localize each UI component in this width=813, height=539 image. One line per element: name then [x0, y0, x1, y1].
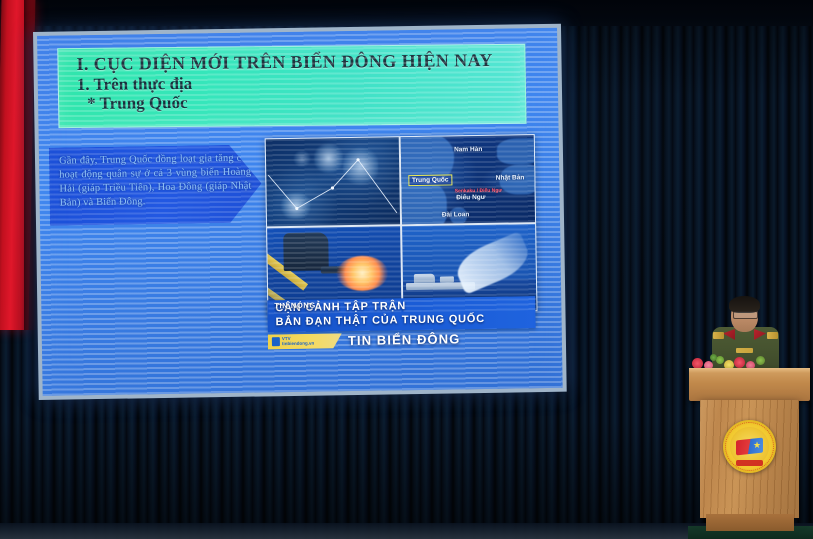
curtain-valance	[0, 0, 813, 26]
map-label-senkaku-red: Senkaku / Điếu Ngư	[455, 188, 502, 195]
epaulette-left	[713, 332, 724, 339]
slide-heading: I. CỤC DIỆN MỚI TRÊN BIỂN ĐÔNG HIỆN NAY	[76, 50, 510, 75]
media-grid: Nam Hàn Trung Quốc Nhật Bản Senkaku / Đi…	[265, 134, 538, 315]
slide-body-text: Gần đây, Trung Quốc đồng loạt gia tăng c…	[59, 152, 252, 211]
map-label-nhat-ban: Nhật Bản	[496, 174, 525, 181]
projection-screen: I. CỤC DIỆN MỚI TRÊN BIỂN ĐÔNG HIỆN NAY …	[33, 24, 567, 400]
screenshot-stage: I. CỤC DIỆN MỚI TRÊN BIỂN ĐÔNG HIỆN NAY …	[0, 0, 813, 539]
podium-base	[706, 514, 794, 531]
logo-text-line-2: tinbiendong.vn	[282, 341, 314, 346]
slide-body-callout: Gần đây, Trung Quốc đồng loạt gia tăng c…	[49, 144, 262, 225]
chyron-brand-name: TIN BIỂN ĐÔNG	[348, 332, 461, 349]
slide-subheading-2: * Trung Quốc	[77, 90, 511, 114]
map-label-dai-loan: Đài Loan	[442, 211, 470, 218]
podium-area	[688, 292, 813, 539]
satellite-radar-map-cell	[266, 137, 400, 226]
presentation-slide: I. CỤC DIỆN MỚI TRÊN BIỂN ĐÔNG HIỆN NAY …	[37, 28, 563, 396]
east-asia-map-cell: Nam Hàn Trung Quốc Nhật Bản Senkaku / Đi…	[401, 135, 535, 224]
podium-emblem	[723, 420, 776, 473]
logo-mark-icon	[272, 337, 280, 346]
epaulette-right	[767, 332, 778, 339]
logo-text: VTV tinbiendong.vn	[282, 337, 314, 347]
map-label-nam-han: Nam Hàn	[454, 146, 482, 153]
map-label-dieu-ngu: Điếu Ngư	[456, 194, 485, 201]
radar-connector-lines	[266, 137, 400, 226]
podium-top-edge	[689, 368, 810, 373]
broadcaster-logo: VTV tinbiendong.vn	[268, 333, 342, 349]
eyeglasses-icon	[733, 311, 758, 319]
emblem-caption-bar	[736, 460, 763, 466]
map-label-trung-quoc: Trung Quốc	[408, 174, 453, 186]
chyron-brand-bar: VTV tinbiendong.vn TIN BIỂN ĐÔNG	[268, 328, 536, 351]
slide-title-band: I. CỤC DIỆN MỚI TRÊN BIỂN ĐÔNG HIỆN NAY …	[57, 44, 526, 128]
chyron-tag-tin-nong: TIN NÓNG	[274, 301, 316, 311]
